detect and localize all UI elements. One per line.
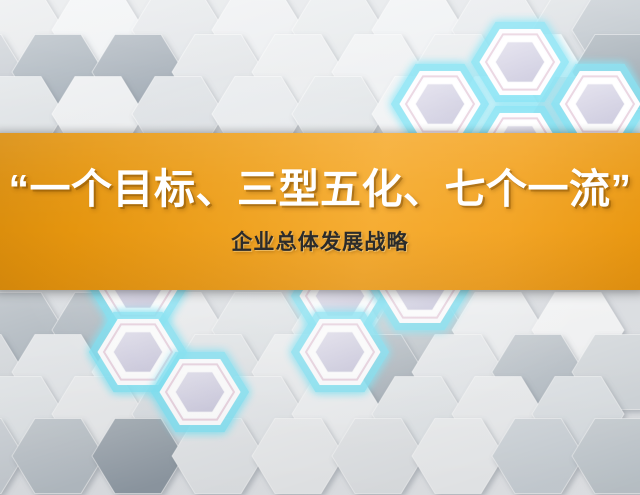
slide-canvas: “一个目标、三型五化、七个一流” 企业总体发展战略 bbox=[0, 0, 640, 495]
banner-content: “一个目标、三型五化、七个一流” 企业总体发展战略 bbox=[0, 167, 640, 255]
glowing-hexagon bbox=[555, 67, 640, 140]
page-title: “一个目标、三型五化、七个一流” bbox=[0, 167, 640, 211]
page-subtitle: 企业总体发展战略 bbox=[0, 226, 640, 256]
title-banner: “一个目标、三型五化、七个一流” 企业总体发展战略 bbox=[0, 133, 640, 290]
glowing-hexagon bbox=[155, 355, 245, 428]
glowing-hexagon bbox=[395, 67, 485, 140]
glowing-hexagon bbox=[475, 25, 565, 98]
glowing-hexagon bbox=[295, 315, 385, 388]
